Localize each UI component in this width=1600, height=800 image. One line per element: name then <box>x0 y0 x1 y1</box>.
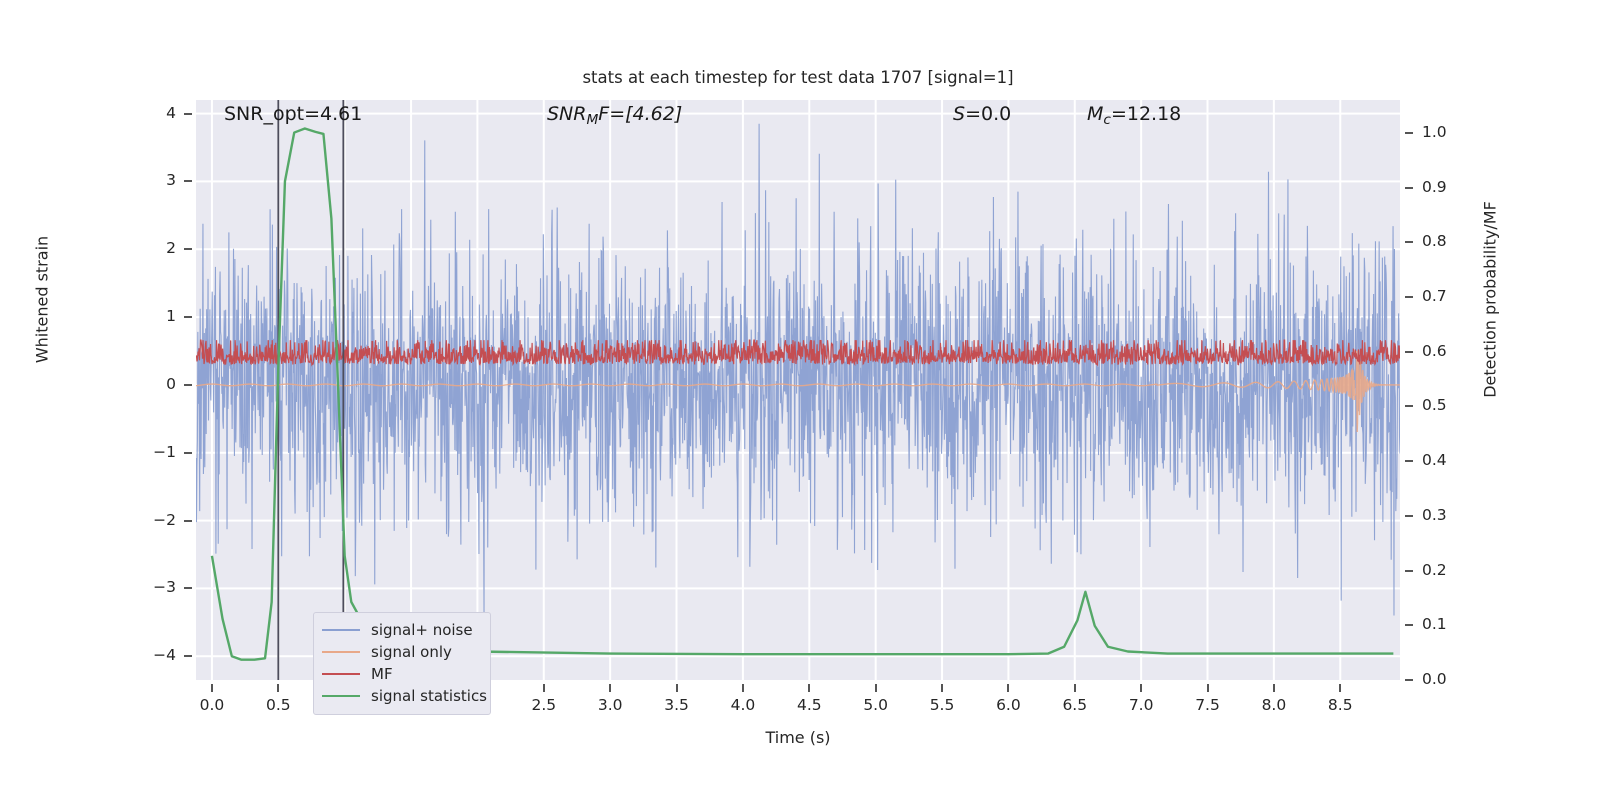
legend-item-signal-noise[interactable]: signal+ noise <box>322 619 482 641</box>
x-tick-mark-10 <box>875 684 877 692</box>
x-tick-5: 2.5 <box>514 696 574 714</box>
y-tick-mark-right-8 <box>1405 241 1413 243</box>
x-tick-14: 7.0 <box>1111 696 1171 714</box>
y-tick-right-3: 0.3 <box>1422 506 1474 524</box>
annotation-chirp-mass: Mc=12.18 <box>1087 103 1181 128</box>
x-tick-mark-12 <box>1007 684 1009 692</box>
y-tick-left-4: 0 <box>124 375 176 393</box>
x-tick-8: 4.0 <box>713 696 773 714</box>
x-tick-1: 0.5 <box>248 696 308 714</box>
x-tick-mark-11 <box>941 684 943 692</box>
x-tick-mark-7 <box>676 684 678 692</box>
series-signal-noise <box>196 124 1400 616</box>
x-tick-9: 4.5 <box>779 696 839 714</box>
legend-label-signal-only: signal only <box>371 643 452 661</box>
y-tick-mark-left-1 <box>184 587 192 589</box>
y-tick-mark-left-2 <box>184 520 192 522</box>
y-tick-right-9: 0.9 <box>1422 178 1474 196</box>
x-tick-6: 3.0 <box>580 696 640 714</box>
y-tick-right-4: 0.4 <box>1422 451 1474 469</box>
annotation-mc-subscript: c <box>1103 112 1111 128</box>
x-tick-12: 6.0 <box>978 696 1038 714</box>
y-tick-right-5: 0.5 <box>1422 396 1474 414</box>
y-tick-mark-right-9 <box>1405 187 1413 189</box>
y-tick-left-8: 4 <box>124 104 176 122</box>
x-tick-mark-0 <box>211 684 213 692</box>
y-tick-mark-right-2 <box>1405 570 1413 572</box>
y-tick-left-0: −4 <box>124 646 176 664</box>
y-tick-left-1: −3 <box>124 578 176 596</box>
y-tick-mark-right-6 <box>1405 351 1413 353</box>
y-tick-mark-left-7 <box>184 180 192 182</box>
annotation-snr-mf: SNRMF=[4.62] <box>547 103 682 128</box>
plot-area <box>196 100 1400 680</box>
legend-swatch-signal-statistics <box>322 695 360 697</box>
annotation-snr-opt: SNR_opt=4.61 <box>224 103 362 125</box>
x-tick-mark-16 <box>1273 684 1275 692</box>
y-tick-left-5: 1 <box>124 307 176 325</box>
y-tick-left-3: −1 <box>124 443 176 461</box>
y-axis-label-left: Whitened strain <box>33 150 52 450</box>
y-tick-mark-right-10 <box>1405 132 1413 134</box>
annotation-snr-mf-suffix: F=[4.62] <box>598 103 682 125</box>
x-tick-11: 5.5 <box>912 696 972 714</box>
legend[interactable]: signal+ noise signal only MF signal stat… <box>313 612 491 715</box>
legend-swatch-signal-only <box>322 651 360 653</box>
y-tick-right-10: 1.0 <box>1422 123 1474 141</box>
y-tick-right-7: 0.7 <box>1422 287 1474 305</box>
x-tick-mark-8 <box>742 684 744 692</box>
y-tick-mark-left-4 <box>184 384 192 386</box>
x-tick-16: 8.0 <box>1244 696 1304 714</box>
x-tick-mark-15 <box>1207 684 1209 692</box>
x-tick-mark-13 <box>1074 684 1076 692</box>
y-tick-mark-right-0 <box>1405 679 1413 681</box>
x-axis-label: Time (s) <box>196 728 1400 747</box>
y-tick-right-1: 0.1 <box>1422 615 1474 633</box>
x-tick-7: 3.5 <box>647 696 707 714</box>
y-tick-right-8: 0.8 <box>1422 232 1474 250</box>
page-title: stats at each timestep for test data 170… <box>196 68 1400 87</box>
y-tick-mark-right-4 <box>1405 460 1413 462</box>
y-tick-right-2: 0.2 <box>1422 561 1474 579</box>
legend-item-mf[interactable]: MF <box>322 663 482 685</box>
annotation-s-stat: S=0.0 <box>953 103 1011 125</box>
y-tick-left-6: 2 <box>124 239 176 257</box>
x-tick-mark-6 <box>609 684 611 692</box>
x-tick-mark-5 <box>543 684 545 692</box>
legend-label-signal-statistics: signal statistics <box>371 687 487 705</box>
y-tick-mark-left-3 <box>184 452 192 454</box>
y-tick-mark-left-5 <box>184 316 192 318</box>
legend-item-signal-only[interactable]: signal only <box>322 641 482 663</box>
y-tick-left-2: −2 <box>124 511 176 529</box>
matplotlib-figure: stats at each timestep for test data 170… <box>0 0 1600 800</box>
annotation-mc-suffix: =12.18 <box>1111 103 1181 125</box>
legend-label-mf: MF <box>371 665 393 683</box>
y-tick-mark-left-0 <box>184 655 192 657</box>
annotation-snr-mf-prefix: SNR <box>547 103 586 125</box>
x-tick-mark-9 <box>808 684 810 692</box>
x-tick-15: 7.5 <box>1178 696 1238 714</box>
legend-swatch-signal-noise <box>322 629 360 631</box>
x-tick-10: 5.0 <box>846 696 906 714</box>
y-tick-mark-right-7 <box>1405 296 1413 298</box>
legend-item-signal-statistics[interactable]: signal statistics <box>322 685 482 707</box>
y-tick-mark-right-3 <box>1405 515 1413 517</box>
y-tick-mark-right-5 <box>1405 405 1413 407</box>
x-tick-mark-14 <box>1140 684 1142 692</box>
y-tick-mark-left-6 <box>184 248 192 250</box>
y-tick-right-0: 0.0 <box>1422 670 1474 688</box>
annotation-s-suffix: =0.0 <box>965 103 1011 125</box>
y-tick-mark-right-1 <box>1405 624 1413 626</box>
annotation-s-prefix: S <box>953 103 965 125</box>
x-tick-0: 0.0 <box>182 696 242 714</box>
legend-swatch-mf <box>322 673 360 675</box>
x-tick-17: 8.5 <box>1310 696 1370 714</box>
x-tick-13: 6.5 <box>1045 696 1105 714</box>
y-tick-mark-left-8 <box>184 113 192 115</box>
y-axis-label-right: Detection probability/MF <box>1481 150 1500 450</box>
y-tick-right-6: 0.6 <box>1422 342 1474 360</box>
x-tick-mark-17 <box>1339 684 1341 692</box>
annotation-snr-mf-subscript: M <box>586 112 598 128</box>
annotation-mc-prefix: M <box>1087 103 1103 125</box>
y-tick-left-7: 3 <box>124 171 176 189</box>
plot-canvas <box>196 100 1400 680</box>
legend-label-signal-noise: signal+ noise <box>371 621 473 639</box>
x-tick-mark-1 <box>277 684 279 692</box>
